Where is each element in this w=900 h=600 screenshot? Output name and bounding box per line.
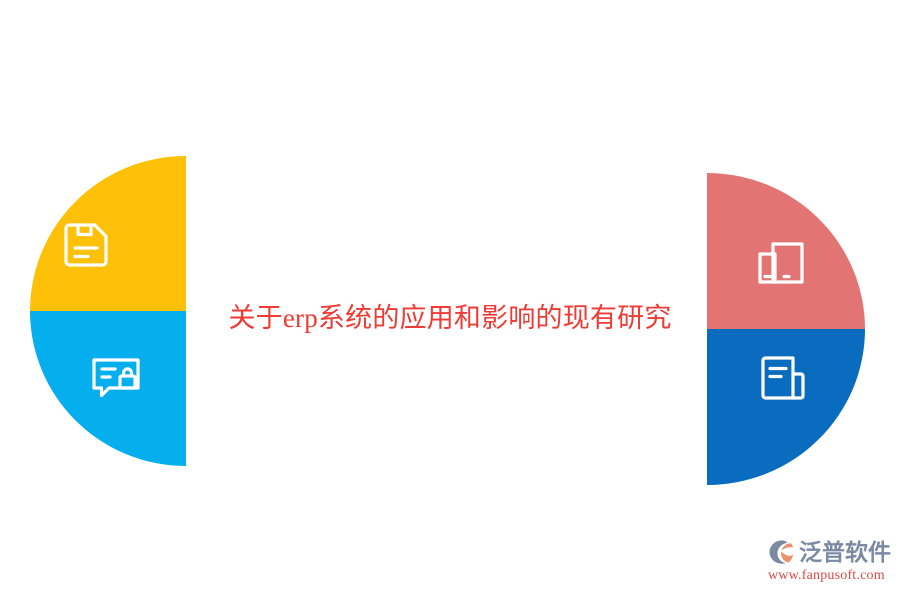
brand-url: www.fanpusoft.com xyxy=(768,567,892,585)
save-document-icon xyxy=(58,217,114,273)
brand-watermark: 泛普软件 www.fanpusoft.com xyxy=(768,538,892,588)
brand-name: 泛普软件 xyxy=(799,539,891,565)
page-title: 关于erp系统的应用和影响的现有研究 xyxy=(0,298,900,338)
devices-icon xyxy=(753,235,809,291)
fanpu-logo-mark-icon xyxy=(768,539,797,565)
secure-chat-icon xyxy=(88,350,144,406)
screenshot-canvas: 关于erp系统的应用和影响的现有研究 泛普软件 www.fanpusoft.co… xyxy=(0,0,900,600)
book-document-icon xyxy=(755,350,811,406)
brand-logo-row: 泛普软件 xyxy=(768,538,892,566)
